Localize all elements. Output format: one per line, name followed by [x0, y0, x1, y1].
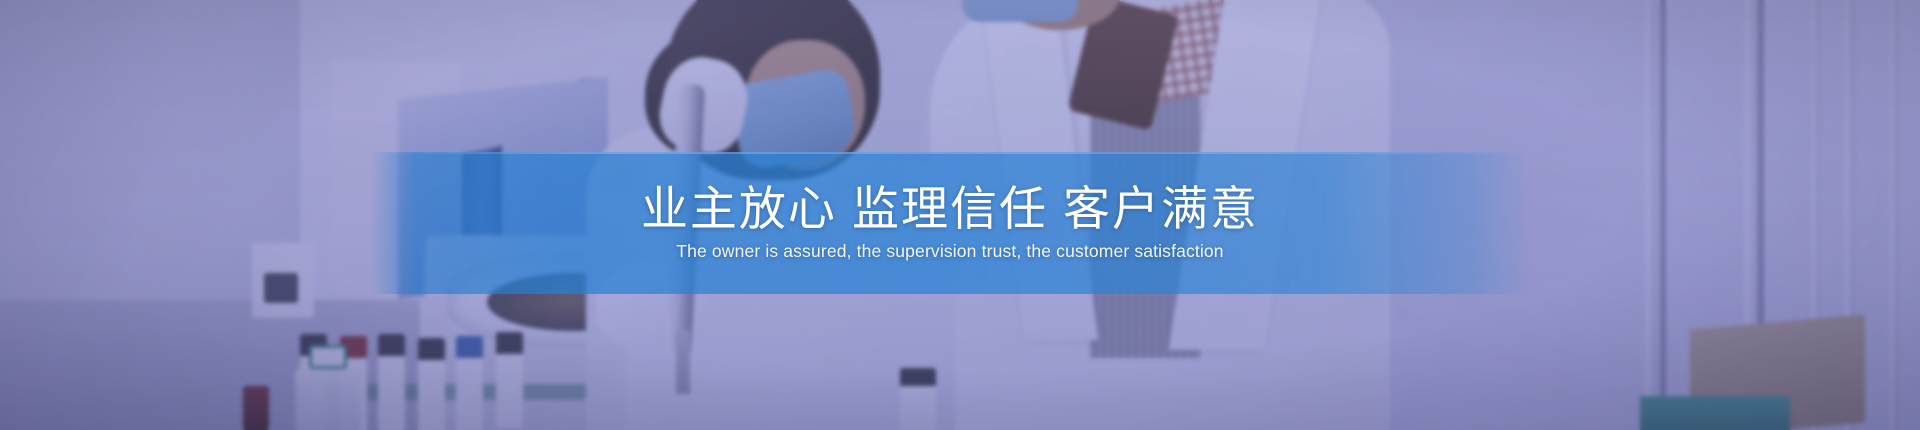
subline-english: The owner is assured, the supervision tr…	[676, 241, 1223, 262]
caption-block: 业主放心 监理信任 客户满意 The owner is assured, the…	[370, 152, 1530, 294]
hero-banner: 业主放心 监理信任 客户满意 The owner is assured, the…	[0, 0, 1920, 430]
headline-chinese: 业主放心 监理信任 客户满意	[641, 184, 1259, 233]
